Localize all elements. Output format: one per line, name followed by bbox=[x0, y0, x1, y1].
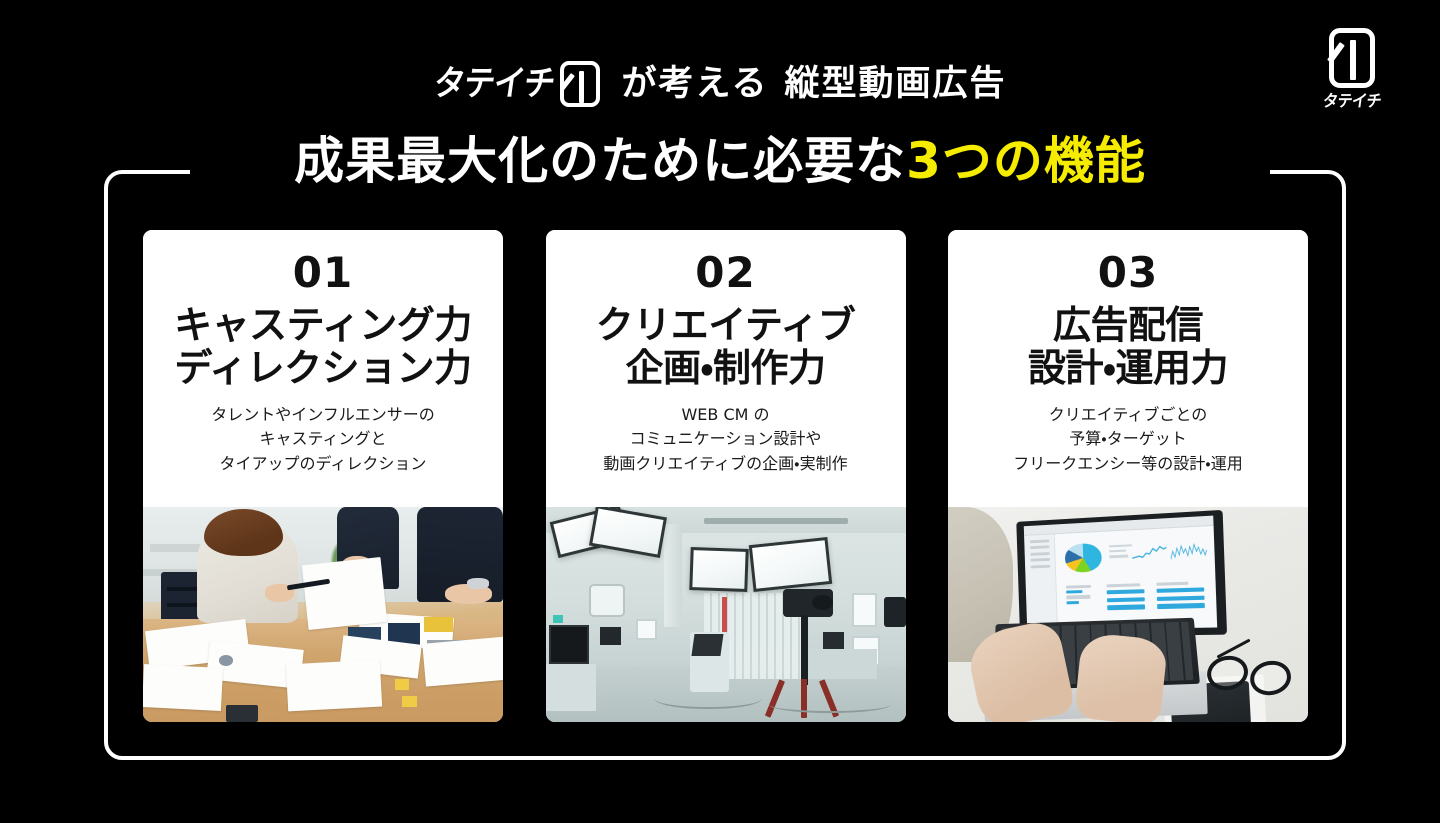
inline-brand-one-icon bbox=[560, 61, 600, 107]
card-02-description: WEB CM の コミュニケーション設計や 動画クリエイティブの企画・実制作 bbox=[603, 403, 847, 477]
card-03-number: 03 bbox=[1098, 252, 1158, 294]
page-title-yellow: 3つの機能 bbox=[906, 132, 1146, 190]
meeting-documents-photo bbox=[143, 507, 503, 722]
header-subject-text: 縦型動画広告 bbox=[784, 64, 1006, 104]
card-01-title: キャスティング力 ディレクション力 bbox=[174, 304, 472, 391]
feature-card-03[interactable]: 03 広告配信 設計・運用力 クリエイティブごとの 予算・ターゲット フリークエ… bbox=[948, 230, 1308, 722]
inline-brand-katakana: タテイチ bbox=[431, 67, 556, 102]
card-01-number: 01 bbox=[293, 252, 353, 294]
feature-card-02[interactable]: 02 クリエイティブ 企画・制作力 WEB CM の コミュニケーション設計や … bbox=[546, 230, 906, 722]
laptop-analytics-photo bbox=[948, 507, 1308, 722]
header-tagline-text: が考える bbox=[622, 64, 769, 104]
card-03-description: クリエイティブごとの 予算・ターゲット フリークエンシー等の設計・運用 bbox=[1013, 403, 1242, 477]
slide-root: タテイチ が考える縦型動画広告 タテイチ 成果最大化のために必要な3つの機能 0… bbox=[0, 0, 1440, 823]
page-title-white: 成果最大化のために必要な bbox=[294, 132, 906, 190]
card-03-title: 広告配信 設計・運用力 bbox=[1028, 304, 1228, 391]
corner-brand-katakana: タテイチ bbox=[1322, 93, 1382, 110]
card-02-text: 02 クリエイティブ 企画・制作力 WEB CM の コミュニケーション設計や … bbox=[546, 230, 906, 507]
corner-brand-logo: タテイチ bbox=[1312, 28, 1392, 120]
card-02-title: クリエイティブ 企画・制作力 bbox=[596, 304, 855, 391]
inline-brand-logo: タテイチ bbox=[434, 61, 600, 107]
card-03-text: 03 広告配信 設計・運用力 クリエイティブごとの 予算・ターゲット フリークエ… bbox=[948, 230, 1308, 507]
header-tagline: が考える縦型動画広告 bbox=[622, 67, 1007, 102]
card-01-description: タレントやインフルエンサーの キャスティングと タイアップのディレクション bbox=[211, 403, 435, 477]
corner-one-icon bbox=[1329, 28, 1375, 88]
feature-card-list: 01 キャスティング力 ディレクション力 タレントやインフルエンサーの キャステ… bbox=[143, 230, 1308, 722]
page-title: 成果最大化のために必要な3つの機能 bbox=[0, 136, 1440, 186]
card-01-text: 01 キャスティング力 ディレクション力 タレントやインフルエンサーの キャステ… bbox=[143, 230, 503, 507]
header-title-row: タテイチ が考える縦型動画広告 bbox=[0, 56, 1440, 112]
video-studio-photo bbox=[546, 507, 906, 722]
feature-card-01[interactable]: 01 キャスティング力 ディレクション力 タレントやインフルエンサーの キャステ… bbox=[143, 230, 503, 722]
card-02-number: 02 bbox=[695, 252, 755, 294]
